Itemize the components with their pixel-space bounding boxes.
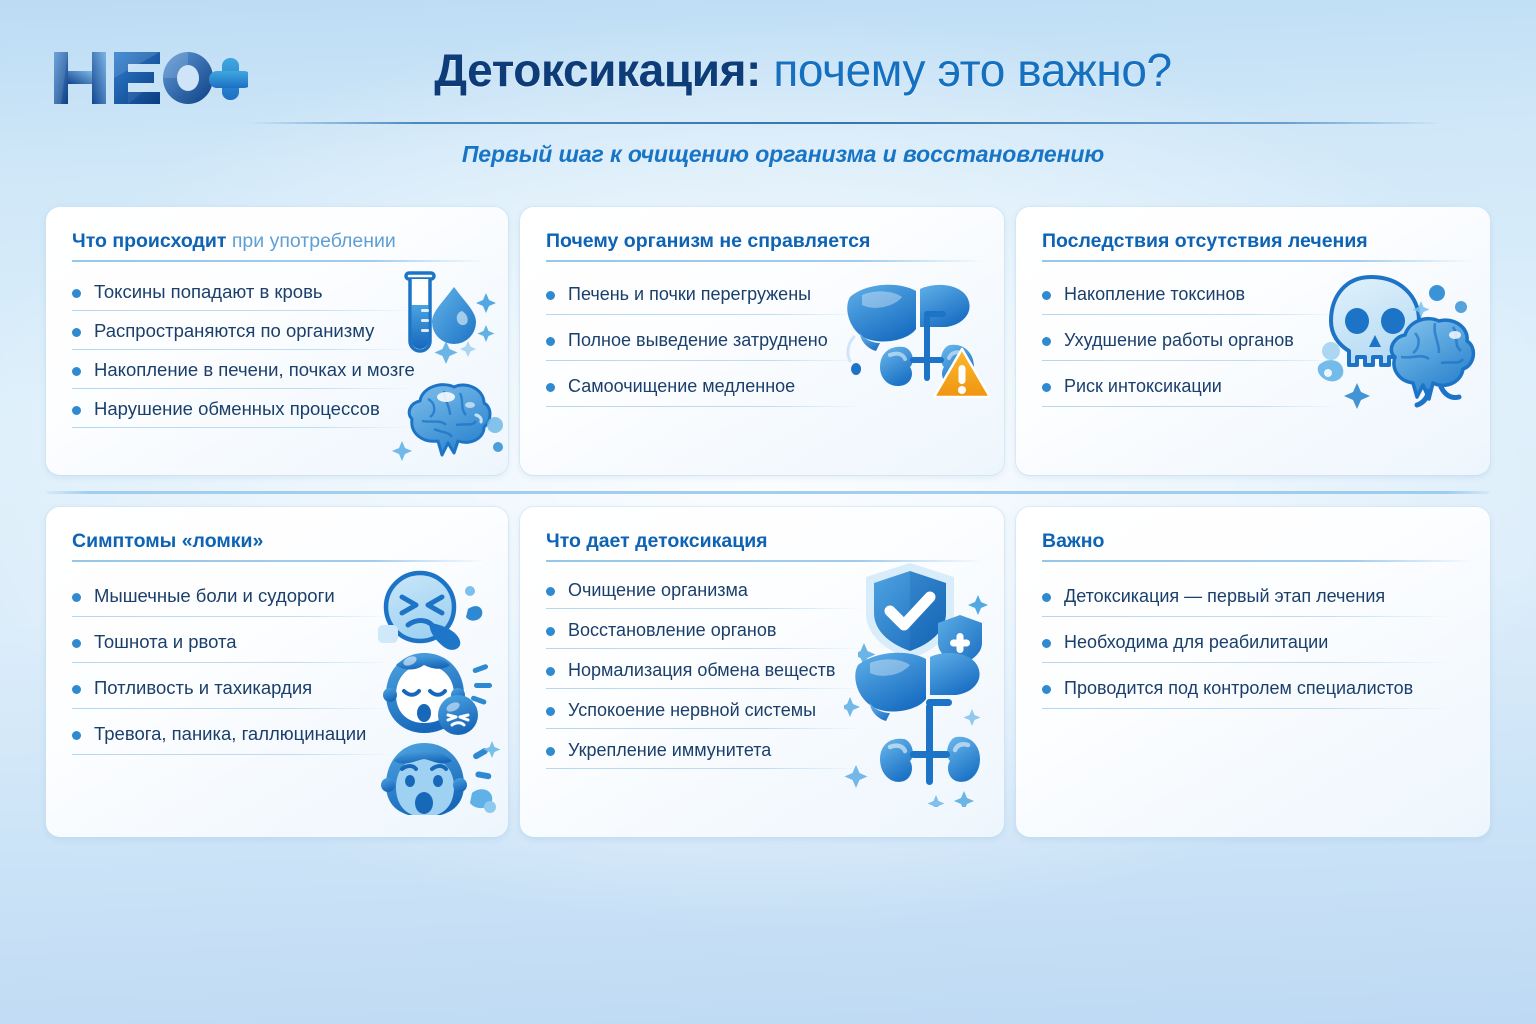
item-divider <box>1042 360 1342 362</box>
card-withdrawal-symptoms[interactable]: Симптомы «ломки» Мышечные боли и судорог… <box>46 507 508 837</box>
list-item-label: Нарушение обменных процессов <box>94 398 380 419</box>
item-divider <box>72 388 416 390</box>
list-item-label: Успокоение нервной системы <box>568 700 816 720</box>
item-divider <box>72 662 394 664</box>
card-title-divider <box>72 560 486 562</box>
water-drop-icon <box>432 287 476 344</box>
item-divider <box>1042 314 1342 316</box>
item-divider <box>546 728 864 730</box>
shield-check-icon <box>858 559 994 669</box>
list-item-label: Детоксикация — первый этап лечения <box>1064 586 1385 606</box>
card-detox-benefits[interactable]: Что дает детоксикация Очищение организма… <box>520 507 1004 837</box>
item-divider <box>72 427 416 429</box>
list-item: Нормализация обмена веществ <box>542 659 835 689</box>
item-divider <box>546 608 864 610</box>
bullet-list: Токсины попадают в кровь Распространяютс… <box>68 281 415 437</box>
list-item-label: Тошнота и рвота <box>94 631 237 652</box>
card-title: Почему организм не справляется <box>546 229 982 253</box>
bullet-list: Мышечные боли и судороги Тошнота и рвота… <box>68 585 366 769</box>
sparkle-icon <box>392 441 412 461</box>
list-item: Накопление в печени, почках и мозге <box>68 359 415 389</box>
list-item-label: Токсины попадают в кровь <box>94 281 323 302</box>
card-title-bold: Симптомы «ломки» <box>72 530 263 552</box>
card-title: Последствия отсутствия лечения <box>1042 229 1468 253</box>
list-item-label: Накопление в печени, почках и мозге <box>94 359 415 380</box>
list-item-label: Проводится под контролем специалистов <box>1064 678 1413 698</box>
sparkle-icon <box>435 293 497 364</box>
list-item: Полное выведение затруднено <box>542 329 828 361</box>
item-divider <box>72 754 394 756</box>
skull-brain-icon <box>1309 273 1484 413</box>
list-item: Тревога, паника, галлюцинации <box>68 723 366 755</box>
bullet-list: Очищение организма Восстановление органо… <box>542 579 835 779</box>
list-item: Самоочищение медленное <box>542 375 828 407</box>
list-item-label: Ухудшение работы органов <box>1064 330 1294 350</box>
cards-grid: Что происходит при употреблении Токсины … <box>46 207 1490 837</box>
list-item-label: Необходима для реабилитации <box>1064 632 1328 652</box>
card-why-body-fails[interactable]: Почему организм не справляется Печень и … <box>520 207 1004 475</box>
page-title-rest: почему это важно? <box>761 44 1172 96</box>
brain-shape <box>409 385 490 455</box>
list-item: Токсины попадают в кровь <box>68 281 415 311</box>
item-divider <box>1042 708 1454 710</box>
list-item: Успокоение нервной системы <box>542 699 835 729</box>
card-title-bold: Последствия отсутствия лечения <box>1042 230 1368 252</box>
card-title-divider <box>72 260 486 262</box>
list-item: Нарушение обменных процессов <box>68 398 415 428</box>
list-item: Потливость и тахикардия <box>68 677 366 709</box>
list-item-label: Восстановление органов <box>568 620 776 640</box>
list-item-label: Печень и почки перегружены <box>568 284 811 304</box>
shocked-face-icon <box>381 741 501 815</box>
sick-face-icon <box>378 573 482 650</box>
card-important[interactable]: Важно Детоксикация — первый этап лечения… <box>1016 507 1490 837</box>
liver-kidneys-warning-icon <box>842 275 992 405</box>
list-item-label: Риск интоксикации <box>1064 376 1222 396</box>
page-title: Детоксикация: почему это важно? <box>0 40 1536 100</box>
list-item-label: Потливость и тахикардия <box>94 677 312 698</box>
item-divider <box>546 648 864 650</box>
sparkle-icon <box>844 697 981 807</box>
card-title-light: при употреблении <box>226 230 395 252</box>
cards-row-bottom: Симптомы «ломки» Мышечные боли и судорог… <box>46 507 1490 837</box>
item-divider <box>1042 406 1342 408</box>
card-consequences[interactable]: Последствия отсутствия лечения Накоплени… <box>1016 207 1490 475</box>
liver-icon <box>855 653 979 721</box>
list-item: Укрепление иммунитета <box>542 739 835 769</box>
page-title-bold: Детоксикация: <box>434 44 761 96</box>
list-item: Накопление токсинов <box>1038 283 1294 315</box>
card-title-divider <box>1042 560 1474 562</box>
brain-icon <box>1391 319 1473 405</box>
list-item: Проводится под контролем специалистов <box>1038 677 1413 709</box>
card-title-bold: Важно <box>1042 530 1104 552</box>
page-subtitle: Первый шаг к очищению организма и восста… <box>0 141 1536 168</box>
card-title-divider <box>546 260 984 262</box>
list-item: Мышечные боли и судороги <box>68 585 366 617</box>
page-header: Детоксикация: почему это важно? Первый ш… <box>0 0 1536 190</box>
sparkle-icon <box>1344 383 1370 409</box>
symptom-faces-icon <box>372 565 502 815</box>
item-divider <box>546 688 864 690</box>
cards-row-top: Что происходит при употреблении Токсины … <box>46 207 1490 475</box>
list-item: Ухудшение работы органов <box>1038 329 1294 361</box>
liver-kidneys-icon <box>844 647 994 807</box>
list-item: Очищение организма <box>542 579 835 609</box>
item-divider <box>546 768 864 770</box>
card-title: Что происходит при употреблении <box>72 229 486 253</box>
card-title-divider <box>546 560 984 562</box>
bullet-list: Накопление токсинов Ухудшение работы орг… <box>1038 283 1294 421</box>
sparkle-icon <box>858 595 988 666</box>
item-divider <box>72 616 394 618</box>
card-title: Симптомы «ломки» <box>72 529 486 553</box>
list-item-label: Мышечные боли и судороги <box>94 585 335 606</box>
item-divider <box>72 310 416 312</box>
card-title-bold: Что дает детоксикация <box>546 530 768 552</box>
bullet-list: Детоксикация — первый этап лечения Необх… <box>1038 585 1413 723</box>
card-title-bold: Почему организм не справляется <box>546 230 870 252</box>
row-divider <box>46 491 1490 494</box>
list-item-label: Самоочищение медленное <box>568 376 795 396</box>
list-item: Риск интоксикации <box>1038 375 1294 407</box>
card-title-divider <box>1042 260 1474 262</box>
list-item-label: Тревога, паника, галлюцинации <box>94 723 366 744</box>
card-title: Что дает детоксикация <box>546 529 982 553</box>
list-item-label: Укрепление иммунитета <box>568 740 771 760</box>
warning-triangle-icon <box>934 349 990 397</box>
list-item: Распространяются по организму <box>68 320 415 350</box>
list-item-label: Очищение организма <box>568 580 748 600</box>
card-what-happens[interactable]: Что происходит при употреблении Токсины … <box>46 207 508 475</box>
list-item-label: Накопление токсинов <box>1064 284 1245 304</box>
list-item: Детоксикация — первый этап лечения <box>1038 585 1413 617</box>
list-item-label: Нормализация обмена веществ <box>568 660 835 680</box>
list-item: Печень и почки перегружены <box>542 283 828 315</box>
item-divider <box>72 708 394 710</box>
list-item: Тошнота и рвота <box>68 631 366 663</box>
liver-icon <box>847 285 969 375</box>
item-divider <box>546 406 866 408</box>
header-divider <box>248 122 1444 124</box>
list-item-label: Распространяются по организму <box>94 320 374 341</box>
item-divider <box>546 360 866 362</box>
sparkle-icon <box>1413 301 1430 318</box>
kidneys-icon <box>880 699 980 785</box>
item-divider <box>1042 616 1454 618</box>
list-item-label: Полное выведение затруднено <box>568 330 828 350</box>
list-item: Восстановление органов <box>542 619 835 649</box>
bullet-list: Печень и почки перегружены Полное выведе… <box>542 283 828 421</box>
card-title: Важно <box>1042 529 1468 553</box>
item-divider <box>1042 662 1454 664</box>
sweating-face-icon <box>383 653 492 735</box>
shield-plus-badge <box>938 615 982 665</box>
dizzy-face-badge <box>438 695 478 735</box>
list-item: Необходима для реабилитации <box>1038 631 1413 663</box>
item-divider <box>546 314 866 316</box>
skull-icon <box>1331 277 1419 365</box>
item-divider <box>72 349 416 351</box>
kidneys-icon <box>880 311 974 386</box>
card-title-bold: Что происходит <box>72 230 226 252</box>
sparkle-icon <box>484 741 501 758</box>
